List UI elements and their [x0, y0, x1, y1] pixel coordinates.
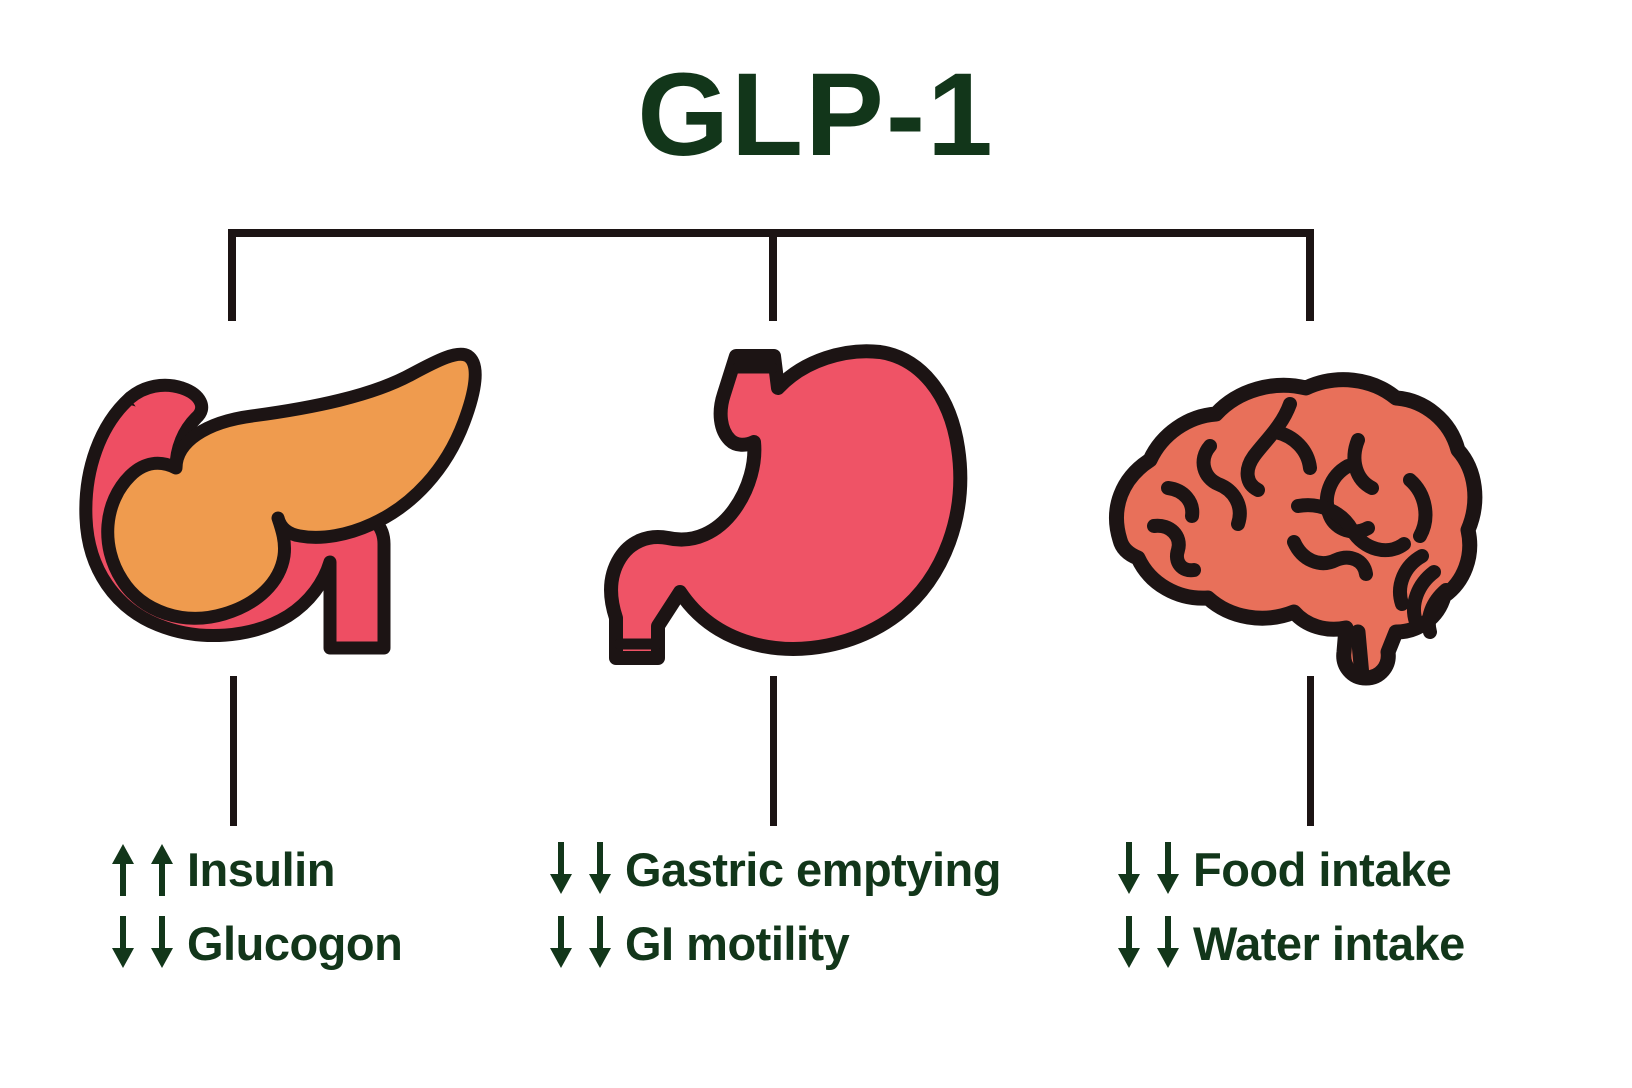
arrow-down-icon [548, 914, 574, 972]
effect-label-water-intake: Water intake [1193, 920, 1465, 967]
effect-row-gastric-emptying: Gastric emptying [548, 832, 1001, 906]
arrow-down-icon [548, 840, 574, 898]
arrow-down-icon [1155, 914, 1181, 972]
stem-line-brain [1307, 676, 1314, 826]
arrow-up-icon [110, 840, 136, 898]
bracket-drop-line-pancreas [228, 229, 236, 321]
arrow-down-icon [1116, 914, 1142, 972]
arrow-down-icon [587, 914, 613, 972]
pancreas-illustration [72, 330, 492, 660]
arrow-down-icon [1155, 840, 1181, 898]
effect-label-insulin: Insulin [187, 846, 335, 893]
effect-label-gi-motility: GI motility [625, 920, 849, 967]
label-group-stomach: Gastric emptying GI motility [548, 832, 1001, 980]
bracket-drop-line-stomach [769, 229, 777, 321]
effect-label-food-intake: Food intake [1193, 846, 1451, 893]
arrow-pair-down-gastric-emptying [548, 840, 613, 898]
label-group-pancreas: Insulin Glucogon [110, 832, 402, 980]
arrow-down-icon [110, 914, 136, 972]
stem-line-pancreas [230, 676, 237, 826]
arrow-pair-down-gi-motility [548, 914, 613, 972]
arrow-up-icon [149, 840, 175, 898]
arrow-down-icon [1116, 840, 1142, 898]
effect-label-gastric-emptying: Gastric emptying [625, 846, 1001, 893]
arrow-pair-down-water-intake [1116, 914, 1181, 972]
stem-line-stomach [770, 676, 777, 826]
brain-illustration [1058, 360, 1488, 690]
glp1-diagram-canvas: GLP-1 [0, 0, 1632, 1088]
effect-row-food-intake: Food intake [1116, 832, 1465, 906]
arrow-pair-up-insulin [110, 840, 175, 898]
page-title: GLP-1 [0, 52, 1632, 179]
effect-row-glucogon: Glucogon [110, 906, 402, 980]
arrow-pair-down-food-intake [1116, 840, 1181, 898]
effect-label-glucogon: Glucogon [187, 920, 402, 967]
effect-row-water-intake: Water intake [1116, 906, 1465, 980]
arrow-down-icon [587, 840, 613, 898]
bracket-drop-line-brain [1306, 229, 1314, 321]
effect-row-insulin: Insulin [110, 832, 402, 906]
stomach-illustration [568, 326, 968, 666]
arrow-down-icon [149, 914, 175, 972]
label-group-brain: Food intake Water intake [1116, 832, 1465, 980]
effect-row-gi-motility: GI motility [548, 906, 1001, 980]
arrow-pair-down-glucogon [110, 914, 175, 972]
